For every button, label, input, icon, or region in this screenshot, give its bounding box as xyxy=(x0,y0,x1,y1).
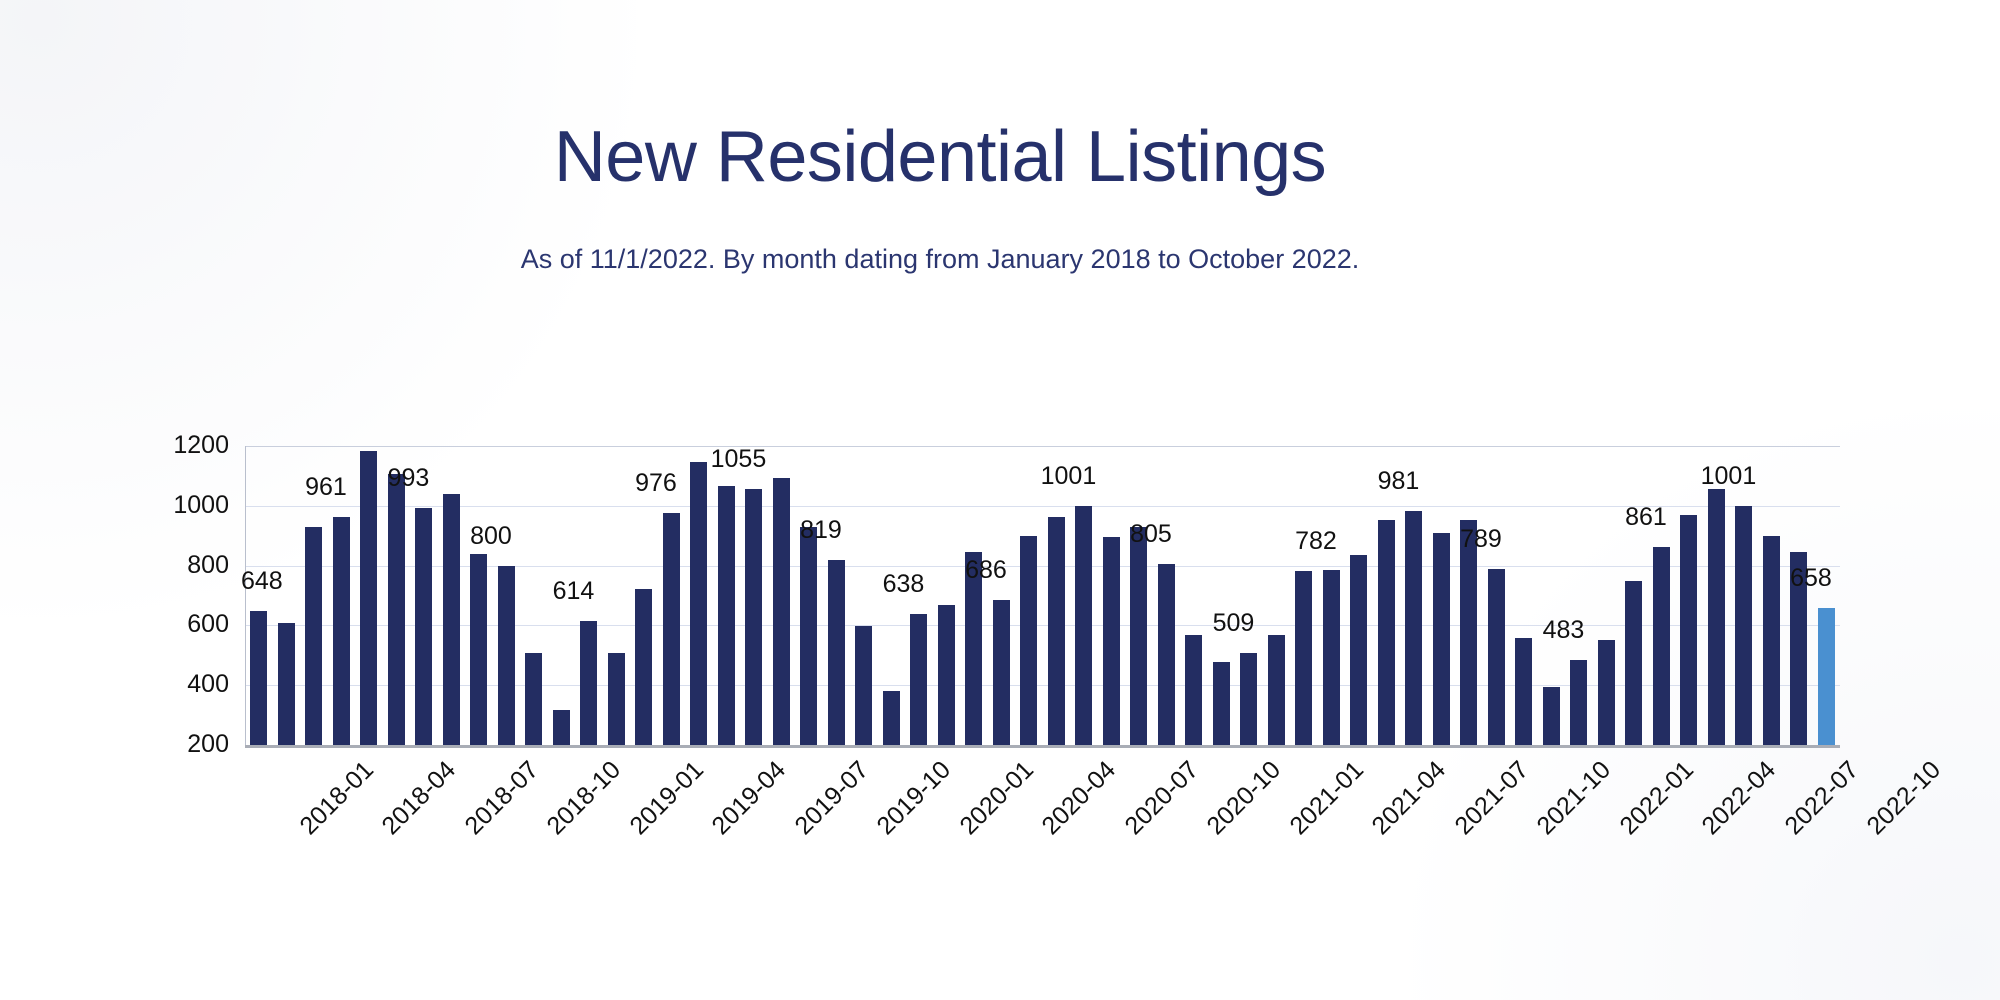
plot-area: 6489619938006149761055819638686100180550… xyxy=(245,446,1840,745)
bar-value-label: 782 xyxy=(1295,529,1337,554)
bar[interactable] xyxy=(333,517,350,745)
x-tick-label: 2021-01 xyxy=(1286,757,1369,840)
bar[interactable] xyxy=(1350,555,1367,745)
bar-value-label: 789 xyxy=(1460,527,1502,552)
bar-value-label: 800 xyxy=(470,524,512,549)
bar[interactable] xyxy=(360,451,377,745)
y-tick-label: 200 xyxy=(149,732,229,757)
x-tick-label: 2022-01 xyxy=(1616,757,1699,840)
bar-value-label: 1001 xyxy=(1041,464,1097,489)
bar[interactable] xyxy=(1075,506,1092,745)
x-tick-label: 2019-04 xyxy=(708,757,791,840)
bar[interactable] xyxy=(1295,571,1312,745)
bar[interactable] xyxy=(1433,533,1450,745)
bar[interactable] xyxy=(1680,515,1697,745)
x-tick-label: 2018-01 xyxy=(296,757,379,840)
bar[interactable] xyxy=(800,527,817,745)
chart-figure: New Residential Listings As of 11/1/2022… xyxy=(0,0,2000,1000)
bar[interactable] xyxy=(1378,520,1395,745)
y-tick-label: 600 xyxy=(149,612,229,637)
bar-value-label: 686 xyxy=(965,558,1007,583)
bar[interactable] xyxy=(1048,517,1065,745)
bar[interactable] xyxy=(1460,520,1477,745)
bar-value-label: 1055 xyxy=(711,447,767,472)
bar-value-label: 805 xyxy=(1130,522,1172,547)
bar[interactable] xyxy=(388,474,405,745)
x-tick-label: 2018-10 xyxy=(543,757,626,840)
bar[interactable] xyxy=(250,611,267,745)
bar[interactable] xyxy=(553,710,570,745)
bar-value-label: 509 xyxy=(1213,611,1255,636)
gridline-1200 xyxy=(245,446,1840,447)
bar[interactable] xyxy=(1323,570,1340,745)
bar[interactable] xyxy=(635,589,652,745)
bar[interactable] xyxy=(525,653,542,745)
x-tick-label: 2019-01 xyxy=(626,757,709,840)
y-tick-label: 1000 xyxy=(149,493,229,518)
bar[interactable] xyxy=(1735,506,1752,745)
x-tick-label: 2022-04 xyxy=(1698,757,1781,840)
x-tick-label: 2022-10 xyxy=(1863,757,1946,840)
x-tick-label: 2021-10 xyxy=(1533,757,1616,840)
bar[interactable] xyxy=(773,478,790,745)
bar[interactable] xyxy=(1708,489,1725,745)
chart-subtitle: As of 11/1/2022. By month dating from Ja… xyxy=(0,243,1880,275)
bar[interactable] xyxy=(1488,569,1505,745)
bar[interactable] xyxy=(1570,660,1587,745)
x-tick-label: 2019-07 xyxy=(791,757,874,840)
y-tick-label: 800 xyxy=(149,553,229,578)
bar[interactable] xyxy=(1240,653,1257,745)
bar[interactable] xyxy=(1818,608,1835,745)
bar[interactable] xyxy=(1130,527,1147,745)
bar[interactable] xyxy=(855,626,872,745)
bar[interactable] xyxy=(993,600,1010,745)
y-axis-line xyxy=(245,446,246,745)
gridline-1000 xyxy=(245,506,1840,507)
bar[interactable] xyxy=(1268,635,1285,745)
x-tick-label: 2019-10 xyxy=(873,757,956,840)
y-tick-label: 400 xyxy=(149,672,229,697)
bar-value-label: 483 xyxy=(1543,618,1585,643)
x-tick-label: 2022-07 xyxy=(1781,757,1864,840)
bar-value-label: 638 xyxy=(883,572,925,597)
bar[interactable] xyxy=(1020,536,1037,745)
bar[interactable] xyxy=(663,513,680,745)
bar[interactable] xyxy=(1185,635,1202,745)
bar[interactable] xyxy=(580,621,597,745)
x-tick-label: 2020-10 xyxy=(1203,757,1286,840)
x-tick-label: 2021-04 xyxy=(1368,757,1451,840)
x-tick-label: 2018-04 xyxy=(378,757,461,840)
bar[interactable] xyxy=(1763,536,1780,745)
bar[interactable] xyxy=(910,614,927,745)
bar[interactable] xyxy=(498,566,515,745)
bar-value-label: 976 xyxy=(635,471,677,496)
bar-value-label: 648 xyxy=(241,569,283,594)
bar[interactable] xyxy=(1515,638,1532,745)
bar[interactable] xyxy=(690,462,707,745)
bar[interactable] xyxy=(1625,581,1642,745)
bar[interactable] xyxy=(608,653,625,745)
bar[interactable] xyxy=(828,560,845,745)
y-tick-label: 1200 xyxy=(149,433,229,458)
bar[interactable] xyxy=(1653,547,1670,745)
bar-value-label: 819 xyxy=(800,518,842,543)
bar-value-label: 981 xyxy=(1378,469,1420,494)
bar[interactable] xyxy=(470,554,487,745)
x-tick-label: 2020-07 xyxy=(1121,757,1204,840)
bar-value-label: 993 xyxy=(388,466,430,491)
bar-value-label: 1001 xyxy=(1701,464,1757,489)
bar[interactable] xyxy=(745,489,762,745)
x-axis-line xyxy=(245,745,1840,748)
bar[interactable] xyxy=(718,486,735,745)
x-tick-label: 2018-07 xyxy=(461,757,544,840)
bar[interactable] xyxy=(1405,511,1422,745)
bar[interactable] xyxy=(1543,687,1560,745)
bar[interactable] xyxy=(1213,662,1230,745)
bar[interactable] xyxy=(443,494,460,745)
bar[interactable] xyxy=(883,691,900,745)
bar[interactable] xyxy=(278,623,295,745)
chart-title: New Residential Listings xyxy=(0,118,1880,196)
x-tick-label: 2020-04 xyxy=(1038,757,1121,840)
x-tick-label: 2021-07 xyxy=(1451,757,1534,840)
bar[interactable] xyxy=(1103,537,1120,745)
bar[interactable] xyxy=(305,527,322,745)
bar[interactable] xyxy=(1598,640,1615,745)
bar-value-label: 861 xyxy=(1625,505,1667,530)
x-tick-label: 2020-01 xyxy=(956,757,1039,840)
bar-value-label: 961 xyxy=(305,475,347,500)
bar[interactable] xyxy=(938,605,955,745)
bar[interactable] xyxy=(415,508,432,745)
bar-value-label: 658 xyxy=(1790,566,1832,591)
bar[interactable] xyxy=(1158,564,1175,745)
bar-value-label: 614 xyxy=(553,579,595,604)
